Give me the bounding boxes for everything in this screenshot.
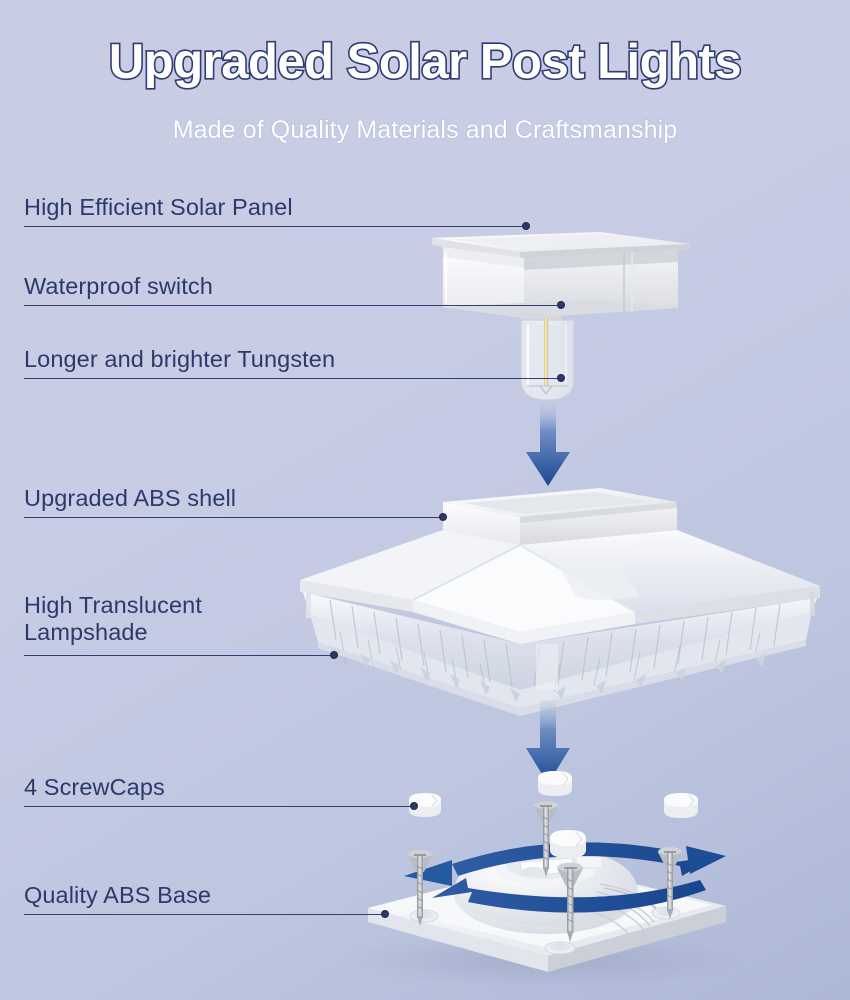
callout-label: Longer and brighter Tungsten — [24, 346, 584, 373]
callout-label: Upgraded ABS shell — [24, 485, 474, 512]
screw-cap — [550, 830, 586, 858]
leader-line — [24, 226, 526, 227]
callout-screwcaps: 4 ScrewCaps — [24, 774, 444, 801]
leader-line — [24, 517, 443, 518]
callout-lampshade: High Translucent Lampshade — [24, 592, 424, 647]
leader-line — [24, 655, 334, 656]
leader-endpoint-dot — [410, 802, 418, 810]
callout-abs-shell: Upgraded ABS shell — [24, 485, 474, 512]
leader-line — [24, 378, 561, 379]
callout-abs-base: Quality ABS Base — [24, 882, 424, 909]
callout-label: 4 ScrewCaps — [24, 774, 444, 801]
product-infographic: Upgraded Solar Post Lights Made of Quali… — [0, 0, 850, 1000]
callout-label: Waterproof switch — [24, 273, 584, 300]
leader-endpoint-dot — [330, 651, 338, 659]
leader-endpoint-dot — [439, 513, 447, 521]
callout-label: Quality ABS Base — [24, 882, 424, 909]
callout-waterproof-switch: Waterproof switch — [24, 273, 584, 300]
leader-endpoint-dot — [522, 222, 530, 230]
leader-endpoint-dot — [557, 301, 565, 309]
leader-line — [24, 305, 561, 306]
leader-endpoint-dot — [557, 374, 565, 382]
screw-cap — [538, 771, 572, 796]
assembly-arrow-upper — [526, 402, 570, 486]
callout-label: High Translucent Lampshade — [24, 592, 424, 647]
leader-endpoint-dot — [381, 910, 389, 918]
callout-tungsten: Longer and brighter Tungsten — [24, 346, 584, 373]
screw-cap — [664, 793, 698, 818]
leader-line — [24, 914, 385, 915]
leader-line — [24, 806, 414, 807]
callout-solar-panel: High Efficient Solar Panel — [24, 194, 554, 221]
callout-label: High Efficient Solar Panel — [24, 194, 554, 221]
